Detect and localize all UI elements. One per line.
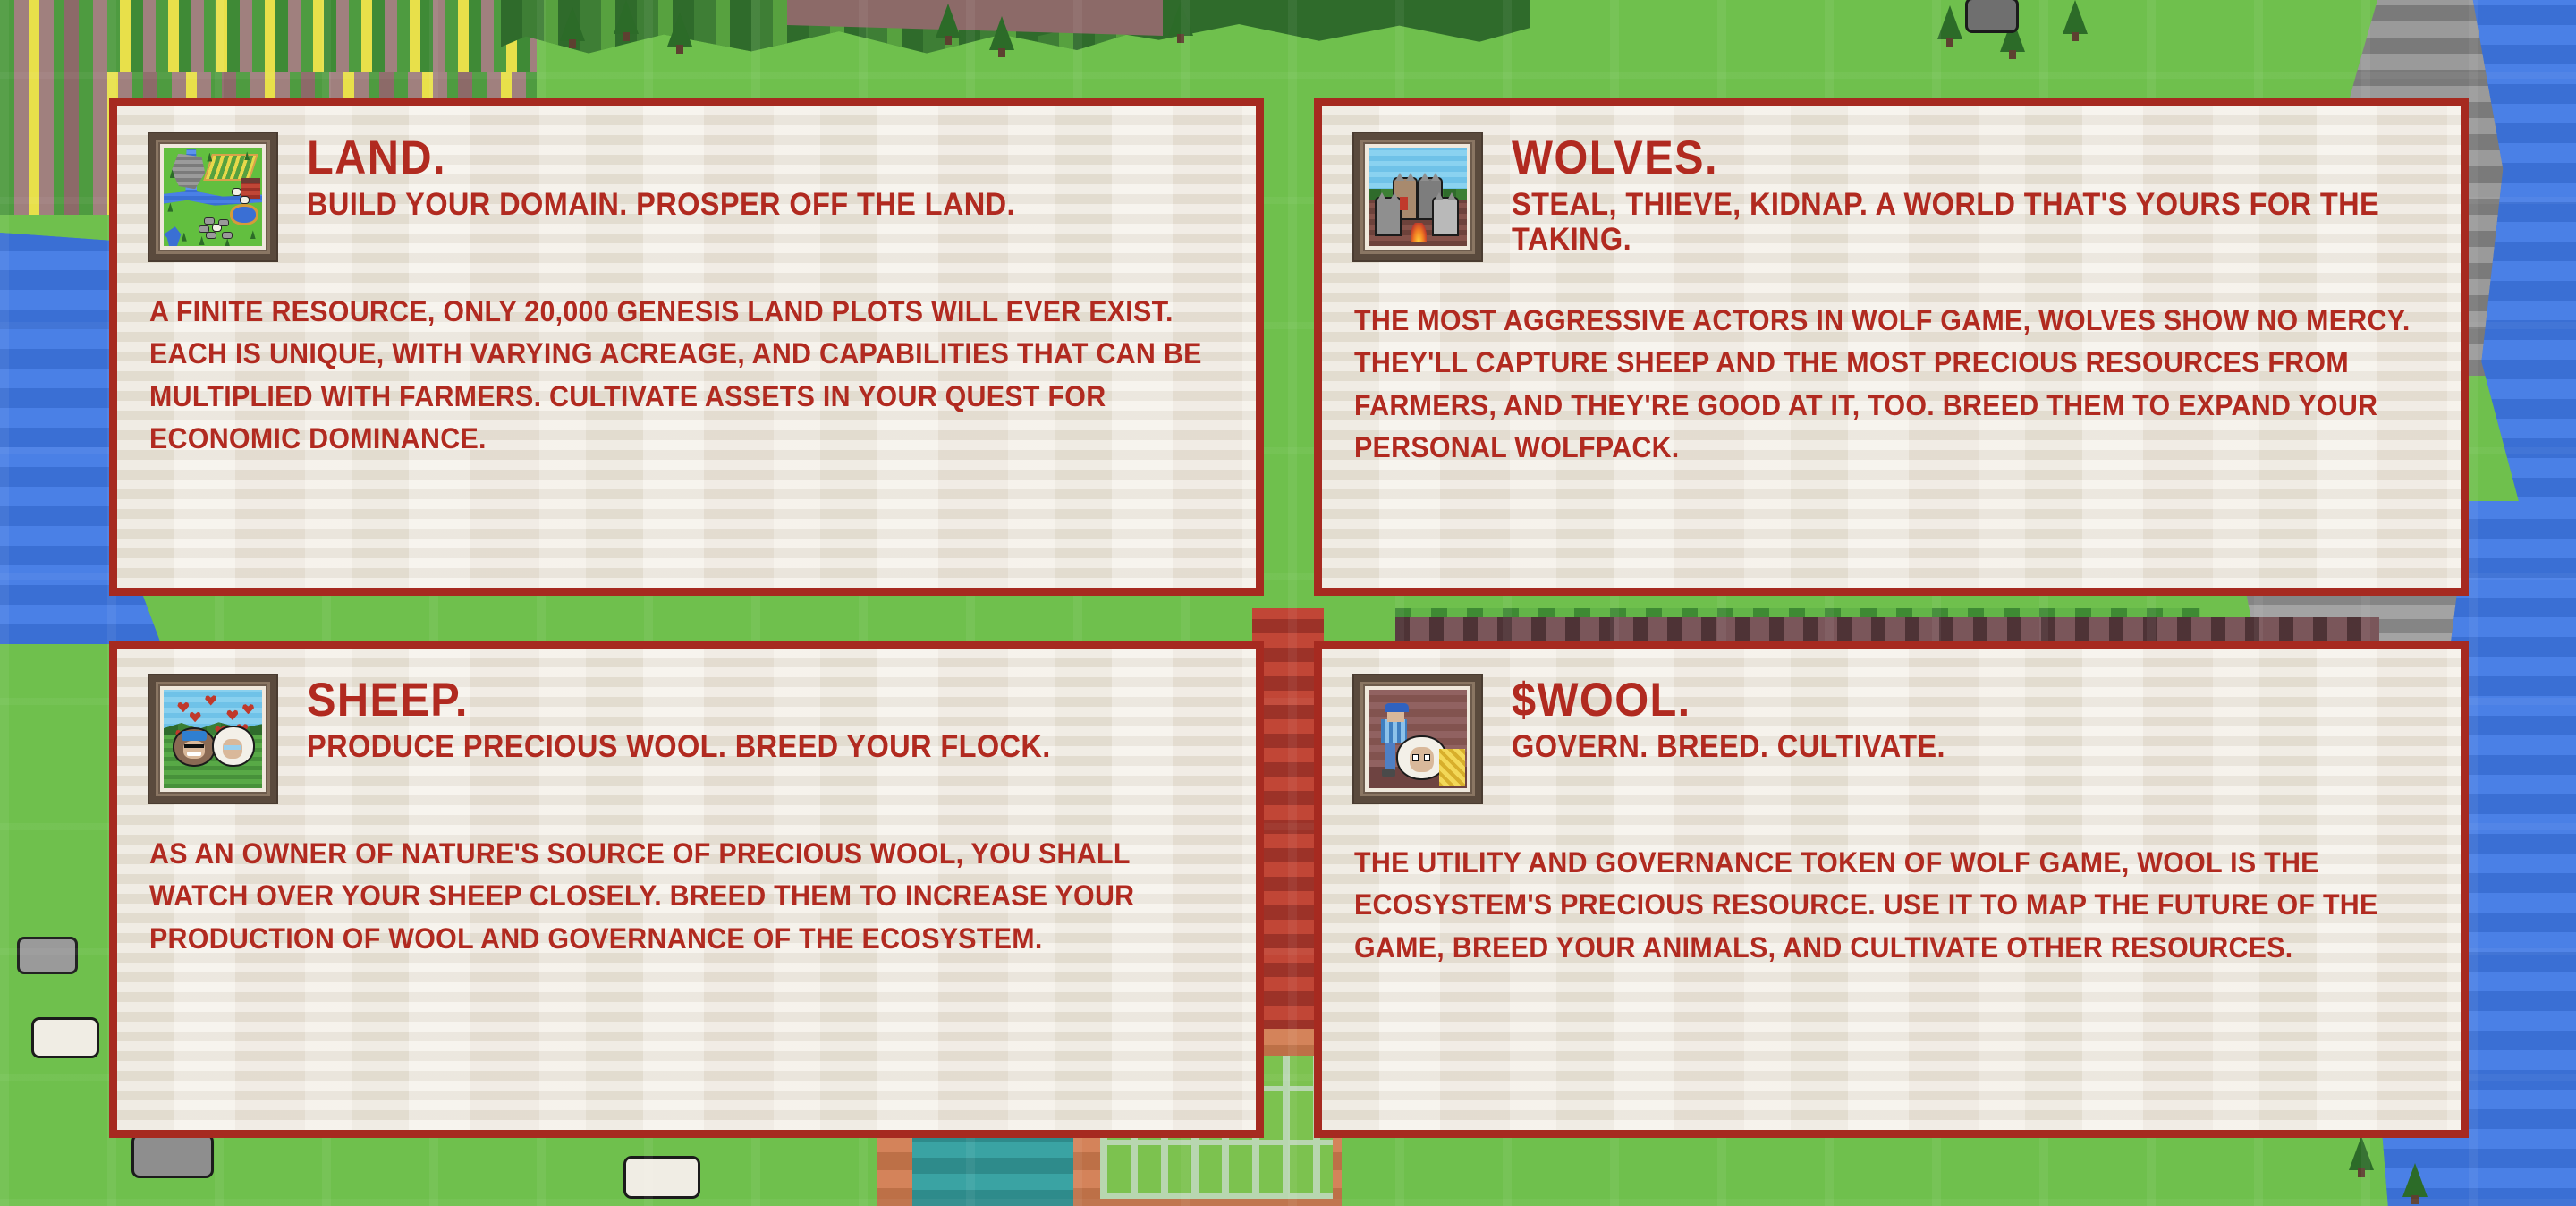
land-artwork-frame [149,133,276,260]
sheep-headings: SHEEP. PRODUCE PRECIOUS WOOL. BREED YOUR… [307,675,1224,764]
feature-card-grid: LAND. BUILD YOUR DOMAIN. PROSPER OFF THE… [109,98,2469,1138]
card-header-wolves: WOLVES. STEAL, THIEVE, KIDNAP. A WORLD T… [1354,133,2428,260]
feature-card-land[interactable]: LAND. BUILD YOUR DOMAIN. PROSPER OFF THE… [109,98,1264,596]
wool-artwork-frame [1354,675,1481,803]
card-body-sheep: AS AN OWNER OF NATURE'S SOURCE OF PRECIO… [149,833,1224,960]
sheep-artwork [164,690,262,788]
sheep-artwork-frame [149,675,276,803]
card-subtitle-land: BUILD YOUR DOMAIN. PROSPER OFF THE LAND. [307,187,1228,222]
card-body-wool: THE UTILITY AND GOVERNANCE TOKEN OF WOLF… [1354,842,2429,969]
card-body-wolves: THE MOST AGGRESSIVE ACTORS IN WOLF GAME,… [1354,300,2429,470]
feature-card-sheep[interactable]: SHEEP. PRODUCE PRECIOUS WOOL. BREED YOUR… [109,641,1264,1138]
feature-card-wolves[interactable]: WOLVES. STEAL, THIEVE, KIDNAP. A WORLD T… [1314,98,2469,596]
wool-pile [1439,749,1465,786]
wolves-headings: WOLVES. STEAL, THIEVE, KIDNAP. A WORLD T… [1512,133,2428,257]
feature-card-wool[interactable]: $WOOL. GOVERN. BREED. CULTIVATE. THE UTI… [1314,641,2469,1138]
card-header-wool: $WOOL. GOVERN. BREED. CULTIVATE. [1354,675,2428,803]
wool-token-artwork [1368,690,1467,788]
card-subtitle-wool: GOVERN. BREED. CULTIVATE. [1512,729,2433,764]
wolves-artwork-frame [1354,133,1481,260]
land-plot-artwork [164,148,262,246]
card-subtitle-wolves: STEAL, THIEVE, KIDNAP. A WORLD THAT'S YO… [1512,187,2433,257]
wool-headings: $WOOL. GOVERN. BREED. CULTIVATE. [1512,675,2428,764]
card-title-sheep: SHEEP. [307,677,1150,724]
land-headings: LAND. BUILD YOUR DOMAIN. PROSPER OFF THE… [307,133,1224,222]
card-header-land: LAND. BUILD YOUR DOMAIN. PROSPER OFF THE… [149,133,1224,260]
card-title-land: LAND. [307,135,1150,182]
card-body-land: A FINITE RESOURCE, ONLY 20,000 GENESIS L… [149,291,1224,461]
card-title-wool: $WOOL. [1512,677,2355,724]
card-header-sheep: SHEEP. PRODUCE PRECIOUS WOOL. BREED YOUR… [149,675,1224,803]
card-subtitle-sheep: PRODUCE PRECIOUS WOOL. BREED YOUR FLOCK. [307,729,1228,764]
wolves-artwork [1368,148,1467,246]
card-title-wolves: WOLVES. [1512,135,2355,182]
